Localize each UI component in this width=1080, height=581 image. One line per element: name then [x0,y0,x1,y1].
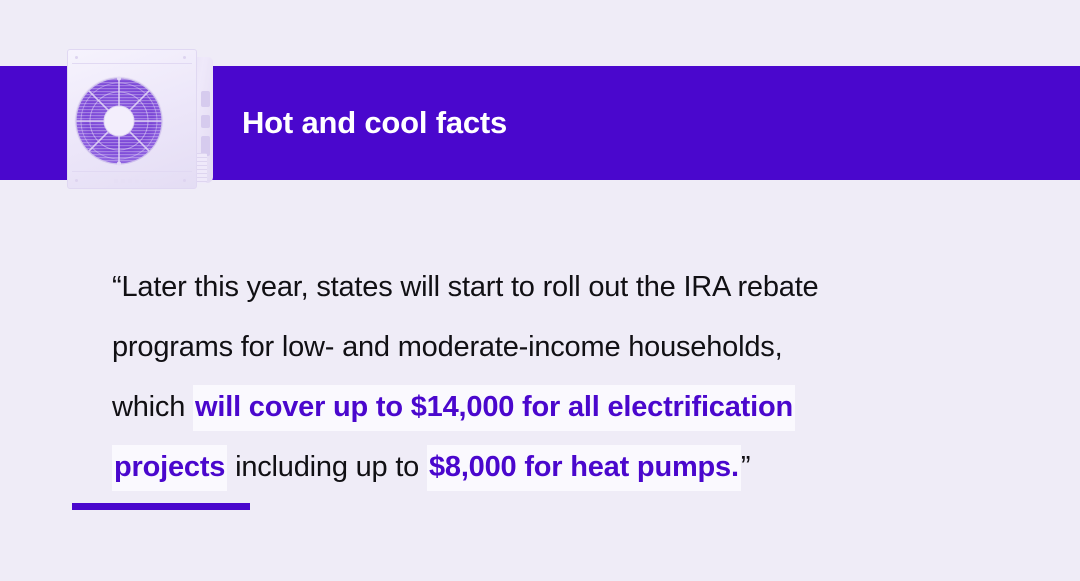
vent-slats-icon [114,179,166,183]
quote-line-4: projects including up to $8,000 for heat… [112,437,1042,497]
closing-quote-mark: ” [741,451,750,483]
quote-segment: programs for low- and moderate-income ho… [112,331,782,363]
fan-grille-icon [74,76,164,166]
quote-segment: including up to [227,451,427,483]
side-vent-icon [201,115,210,128]
quote-highlight: $8,000 for heat pumps. [427,445,741,491]
quote-highlight: will cover up to $14,000 for all electri… [193,385,795,431]
slide-canvas: Hot and cool facts [0,0,1080,581]
quote-line-2: programs for low- and moderate-income ho… [112,317,1042,377]
heat-pump-body [67,49,197,189]
quote-segment: which [112,391,193,423]
pull-quote: “Later this year, states will start to r… [112,257,1042,497]
body-seam [72,63,192,64]
accent-divider [72,503,250,510]
quote-line-1: “Later this year, states will start to r… [112,257,1042,317]
screw-icon [75,179,78,182]
heat-pump-unit-image [67,49,213,189]
quote-line-3: which will cover up to $14,000 for all e… [112,377,1042,437]
quote-highlight: projects [112,445,227,491]
screw-icon [183,56,186,59]
body-seam [72,171,192,172]
screw-icon [75,56,78,59]
quote-segment: “Later this year, states will start to r… [112,271,818,303]
page-title: Hot and cool facts [242,66,507,180]
side-vent-icon [201,91,210,107]
screw-icon [183,179,186,182]
